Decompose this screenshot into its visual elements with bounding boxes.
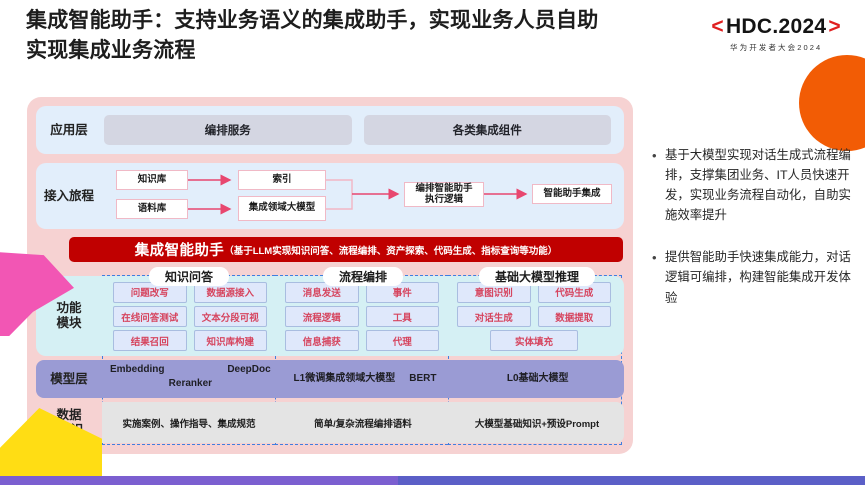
func-row: 流程逻辑 工具 bbox=[285, 306, 439, 327]
journey-box-domain-model: 集成领域大模型 bbox=[238, 196, 326, 221]
bottom-accent-bar bbox=[0, 476, 865, 485]
func-box-agent[interactable]: 代理 bbox=[366, 330, 440, 351]
page-title: 集成智能助手：支持业务语义的集成助手，实现业务人员自助实现集成业务流程 bbox=[26, 6, 616, 66]
slide-root: 集成智能助手：支持业务语义的集成助手，实现业务人员自助实现集成业务流程 <HDC… bbox=[0, 0, 865, 485]
data-cell-foundation-knowledge-prompt: 大模型基础知识+预设Prompt bbox=[450, 402, 624, 443]
bullet-dot-icon: • bbox=[652, 145, 665, 225]
func-box-dialog-generation[interactable]: 对话生成 bbox=[457, 306, 531, 327]
func-row: 结果召回 知识库构建 bbox=[113, 330, 267, 351]
row-label-function-line2: 模块 bbox=[56, 316, 81, 331]
func-box-online-qa-test[interactable]: 在线问答测试 bbox=[113, 306, 187, 327]
hdc-bracket-left-icon: < bbox=[711, 15, 724, 38]
data-cell-cases-guides-specs: 实施案例、操作指导、集成规范 bbox=[102, 402, 276, 443]
bullet-dot-icon: • bbox=[652, 247, 665, 307]
bullet-list: • 基于大模型实现对话生成式流程编排，支撑集团业务、IT人员快速开发，实现业务流… bbox=[652, 145, 852, 330]
row-function-modules: 功能 模块 问题改写 数据源接入 在线问答测试 文本分段可视 bbox=[36, 276, 624, 356]
group-head-knowledge-qa: 知识问答 bbox=[149, 267, 229, 286]
func-row: 在线问答测试 文本分段可视 bbox=[113, 306, 267, 327]
journey-box-knowledge-base: 知识库 bbox=[116, 170, 188, 190]
func-box-data-extraction[interactable]: 数据提取 bbox=[538, 306, 612, 327]
row-access-journey: 接入旅程 知识库 语料库 索引 集成领域大模型 bbox=[36, 163, 624, 229]
banner-title: 集成智能助手 bbox=[135, 239, 224, 260]
row-label-access-journey: 接入旅程 bbox=[36, 163, 102, 229]
model-col-l0: L0基础大模型 bbox=[451, 360, 624, 398]
func-col-knowledge-qa: 问题改写 数据源接入 在线问答测试 文本分段可视 结果召回 知识库构建 bbox=[104, 282, 276, 351]
func-box-process-logic[interactable]: 流程逻辑 bbox=[285, 306, 359, 327]
journey-box-index: 索引 bbox=[238, 170, 326, 190]
model-text-bert: BERT bbox=[409, 372, 436, 386]
journey-box-exec-logic-line2: 执行逻辑 bbox=[425, 195, 463, 206]
model-col-l1: L1微调集成领域大模型 BERT bbox=[279, 360, 452, 398]
model-text-deepdoc: DeepDoc bbox=[227, 363, 270, 377]
data-cell-process-corpus: 简单/复杂流程编排语料 bbox=[276, 402, 450, 443]
model-text-l0-foundation: L0基础大模型 bbox=[507, 372, 569, 386]
group-head-foundation-model-inference: 基础大模型推理 bbox=[479, 267, 595, 286]
row-model-layer: 模型层 Embedding DeepDoc Reranker L1微调集成领域大… bbox=[36, 360, 624, 398]
func-box-kb-construction[interactable]: 知识库构建 bbox=[194, 330, 268, 351]
func-box-entity-filling[interactable]: 实体填充 bbox=[490, 330, 578, 351]
bullet-text-2: 提供智能助手快速集成能力，对话逻辑可编排，构建智能集成开发体验 bbox=[665, 247, 852, 307]
func-row: 信息捕获 代理 bbox=[285, 330, 439, 351]
func-row: 对话生成 数据提取 bbox=[457, 306, 611, 327]
hdc-logo: <HDC.2024> 华为开发者大会2024 bbox=[709, 16, 843, 53]
banner-integration-assistant: 集成智能助手 （基于LLM实现知识问答、流程编排、资产探索、代码生成、指标查询等… bbox=[69, 237, 623, 262]
func-box-info-capture[interactable]: 信息捕获 bbox=[285, 330, 359, 351]
bullet-text-1: 基于大模型实现对话生成式流程编排，支撑集团业务、IT人员快速开发，实现业务流程自… bbox=[665, 145, 852, 225]
func-col-foundation-inference: 意图识别 代码生成 对话生成 数据提取 实体填充 bbox=[448, 282, 620, 351]
bullet-item: • 提供智能助手快速集成能力，对话逻辑可编排，构建智能集成开发体验 bbox=[652, 247, 852, 307]
model-text-reranker: Reranker bbox=[169, 377, 212, 391]
banner-subtitle: （基于LLM实现知识问答、流程编排、资产探索、代码生成、指标查询等功能） bbox=[224, 243, 557, 257]
func-col-process-orchestration: 消息发送 事件 流程逻辑 工具 信息捕获 代理 bbox=[276, 282, 448, 351]
model-text-embedding: Embedding bbox=[110, 363, 164, 377]
hdc-bracket-right-icon: > bbox=[828, 15, 841, 38]
journey-box-exec-logic: 编排智能助手 执行逻辑 bbox=[404, 182, 484, 207]
func-row: 实体填充 bbox=[457, 330, 611, 351]
capability-groups: 知识问答 流程编排 基础大模型推理 功能 模块 问题改写 数据源接入 bbox=[36, 267, 624, 443]
architecture-panel: 应用层 编排服务 各类集成组件 接入旅程 bbox=[27, 97, 633, 454]
journey-box-assistant-integration: 智能助手集成 bbox=[532, 184, 612, 204]
model-text-l1-finetune: L1微调集成领域大模型 bbox=[294, 372, 396, 386]
journey-box-exec-logic-line1: 编排智能助手 bbox=[415, 184, 472, 195]
row-data-knowledge: 数据 /知识 实施案例、操作指导、集成规范 简单/复杂流程编排语料 大模型基础知… bbox=[36, 402, 624, 443]
model-col-embedding: Embedding DeepDoc Reranker bbox=[102, 360, 279, 398]
hdc-logo-main: <HDC.2024> bbox=[709, 16, 843, 37]
hdc-logo-subtitle: 华为开发者大会2024 bbox=[709, 42, 843, 53]
header: 集成智能助手：支持业务语义的集成助手，实现业务人员自助实现集成业务流程 bbox=[26, 6, 616, 66]
journey-box-corpus: 语料库 bbox=[116, 199, 188, 219]
func-box-text-chunk-visual[interactable]: 文本分段可视 bbox=[194, 306, 268, 327]
app-cell-orchestration-service: 编排服务 bbox=[104, 115, 352, 145]
row-application-layer: 应用层 编排服务 各类集成组件 bbox=[36, 106, 624, 154]
row-label-model-layer: 模型层 bbox=[36, 360, 102, 398]
bullet-item: • 基于大模型实现对话生成式流程编排，支撑集团业务、IT人员快速开发，实现业务流… bbox=[652, 145, 852, 225]
row-label-function-line1: 功能 bbox=[56, 301, 81, 316]
group-head-row: 知识问答 流程编排 基础大模型推理 bbox=[102, 267, 624, 285]
app-cell-integration-components: 各类集成组件 bbox=[364, 115, 612, 145]
group-head-process-orchestration: 流程编排 bbox=[323, 267, 403, 286]
row-label-application: 应用层 bbox=[36, 106, 102, 154]
func-box-tool[interactable]: 工具 bbox=[366, 306, 440, 327]
hdc-logo-text: HDC.2024 bbox=[726, 15, 826, 38]
decorative-orange-circle bbox=[799, 55, 865, 151]
func-box-result-recall[interactable]: 结果召回 bbox=[113, 330, 187, 351]
journey-canvas: 知识库 语料库 索引 集成领域大模型 编排智能助手 执行逻辑 智能助手集成 bbox=[102, 163, 624, 229]
